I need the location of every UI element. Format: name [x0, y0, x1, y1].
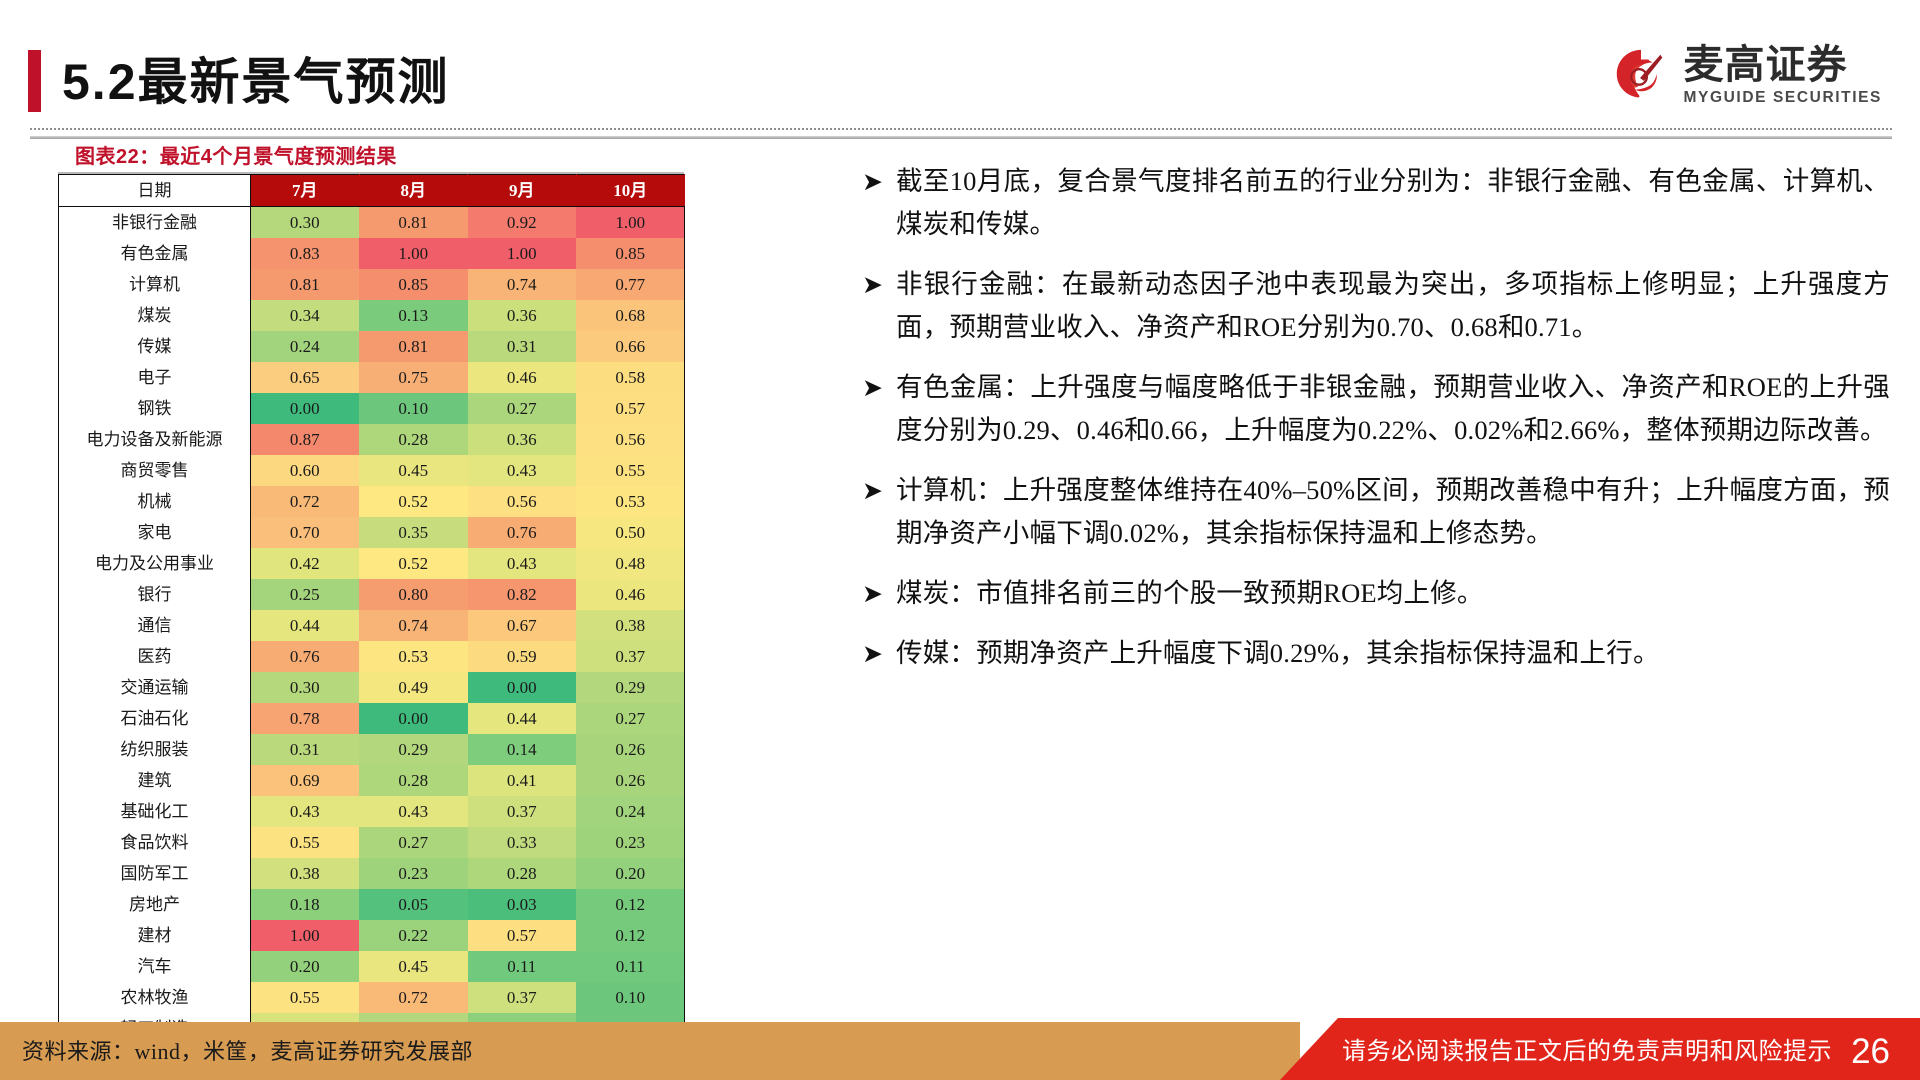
table-body: 非银行金融0.300.810.921.00有色金属0.831.001.000.8… [59, 207, 685, 1076]
cell-7月-汽车: 0.20 [251, 951, 360, 982]
table-header-month-3: 9月 [468, 175, 577, 207]
cell-9月-非银行金融: 0.92 [468, 207, 577, 239]
page-title: 5.2最新景气预测 [62, 42, 450, 114]
cell-9月-电力设备及新能源: 0.36 [468, 424, 577, 455]
chevron-bullet-icon: ➤ [862, 263, 896, 349]
table-row: 房地产0.180.050.030.12 [59, 889, 685, 920]
cell-10月-机械: 0.53 [576, 486, 685, 517]
chevron-bullet-icon: ➤ [862, 572, 896, 615]
cell-9月-食品饮料: 0.33 [468, 827, 577, 858]
cell-10月-建材: 0.12 [576, 920, 685, 951]
cell-8月-基础化工: 0.43 [359, 796, 468, 827]
commentary-item-1: ➤截至10月底，复合景气度排名前五的行业分别为：非银行金融、有色金属、计算机、煤… [862, 160, 1890, 246]
table-row: 计算机0.810.850.740.77 [59, 269, 685, 300]
cell-7月-纺织服装: 0.31 [251, 734, 360, 765]
cell-7月-石油石化: 0.78 [251, 703, 360, 734]
row-label-通信: 通信 [59, 610, 251, 641]
commentary-text-4: 计算机：上升强度整体维持在40%–50%区间，预期改善稳中有升；上升幅度方面，预… [896, 469, 1890, 555]
cell-7月-钢铁: 0.00 [251, 393, 360, 424]
row-label-建筑: 建筑 [59, 765, 251, 796]
cell-10月-电力设备及新能源: 0.56 [576, 424, 685, 455]
row-label-电子: 电子 [59, 362, 251, 393]
cell-9月-医药: 0.59 [468, 641, 577, 672]
logo-name-en: MYGUIDE SECURITIES [1684, 89, 1882, 107]
cell-9月-有色金属: 1.00 [468, 238, 577, 269]
row-label-房地产: 房地产 [59, 889, 251, 920]
cell-9月-机械: 0.56 [468, 486, 577, 517]
cell-8月-医药: 0.53 [359, 641, 468, 672]
page-number: 26 [1851, 1032, 1890, 1072]
cell-10月-煤炭: 0.68 [576, 300, 685, 331]
cell-10月-医药: 0.37 [576, 641, 685, 672]
cell-10月-电力及公用事业: 0.48 [576, 548, 685, 579]
chevron-bullet-icon: ➤ [862, 160, 896, 246]
header-divider-dotted [30, 128, 1892, 130]
table-row: 通信0.440.740.670.38 [59, 610, 685, 641]
cell-10月-农林牧渔: 0.10 [576, 982, 685, 1013]
commentary-item-3: ➤有色金属：上升强度与幅度略低于非银金融，预期营业收入、净资产和ROE的上升强度… [862, 366, 1890, 452]
table-row: 银行0.250.800.820.46 [59, 579, 685, 610]
cell-7月-银行: 0.25 [251, 579, 360, 610]
cell-8月-有色金属: 1.00 [359, 238, 468, 269]
cell-8月-汽车: 0.45 [359, 951, 468, 982]
cell-8月-计算机: 0.85 [359, 269, 468, 300]
table-row: 电力及公用事业0.420.520.430.48 [59, 548, 685, 579]
row-label-家电: 家电 [59, 517, 251, 548]
cell-10月-建筑: 0.26 [576, 765, 685, 796]
cell-9月-纺织服装: 0.14 [468, 734, 577, 765]
company-logo: 麦高证券 MYGUIDE SECURITIES [1610, 44, 1882, 107]
cell-7月-建材: 1.00 [251, 920, 360, 951]
cell-10月-交通运输: 0.29 [576, 672, 685, 703]
cell-9月-计算机: 0.74 [468, 269, 577, 300]
cell-9月-电力及公用事业: 0.43 [468, 548, 577, 579]
table-row: 汽车0.200.450.110.11 [59, 951, 685, 982]
table-header-category: 日期 [59, 175, 251, 207]
table-head: 日期7月8月9月10月 [59, 175, 685, 207]
cell-10月-房地产: 0.12 [576, 889, 685, 920]
cell-8月-食品饮料: 0.27 [359, 827, 468, 858]
table-row: 交通运输0.300.490.000.29 [59, 672, 685, 703]
heatmap-table-wrapper: 日期7月8月9月10月 非银行金融0.300.810.921.00有色金属0.8… [58, 174, 684, 1076]
table-row: 建材1.000.220.570.12 [59, 920, 685, 951]
prosperity-heatmap-table: 日期7月8月9月10月 非银行金融0.300.810.921.00有色金属0.8… [58, 174, 685, 1076]
table-row: 建筑0.690.280.410.26 [59, 765, 685, 796]
cell-9月-建材: 0.57 [468, 920, 577, 951]
cell-8月-商贸零售: 0.45 [359, 455, 468, 486]
commentary-item-4: ➤计算机：上升强度整体维持在40%–50%区间，预期改善稳中有升；上升幅度方面，… [862, 469, 1890, 555]
slide: 5.2最新景气预测 麦高证券 MYGUIDE SECURITIES 图表22：最… [0, 0, 1920, 1080]
row-label-机械: 机械 [59, 486, 251, 517]
cell-8月-传媒: 0.81 [359, 331, 468, 362]
table-header-row: 日期7月8月9月10月 [59, 175, 685, 207]
table-row: 基础化工0.430.430.370.24 [59, 796, 685, 827]
row-label-纺织服装: 纺织服装 [59, 734, 251, 765]
cell-9月-石油石化: 0.44 [468, 703, 577, 734]
row-label-有色金属: 有色金属 [59, 238, 251, 269]
table-row: 纺织服装0.310.290.140.26 [59, 734, 685, 765]
cell-10月-钢铁: 0.57 [576, 393, 685, 424]
cell-8月-通信: 0.74 [359, 610, 468, 641]
cell-7月-食品饮料: 0.55 [251, 827, 360, 858]
table-header-month-2: 8月 [359, 175, 468, 207]
cell-7月-通信: 0.44 [251, 610, 360, 641]
cell-8月-房地产: 0.05 [359, 889, 468, 920]
cell-9月-钢铁: 0.27 [468, 393, 577, 424]
cell-7月-煤炭: 0.34 [251, 300, 360, 331]
table-row: 电力设备及新能源0.870.280.360.56 [59, 424, 685, 455]
commentary-item-6: ➤传媒：预期净资产上升幅度下调0.29%，其余指标保持温和上行。 [862, 632, 1890, 675]
cell-9月-国防军工: 0.28 [468, 858, 577, 889]
footer-disclaimer: 请务必阅读报告正文后的免责声明和风险提示 [1342, 1031, 1832, 1066]
cell-10月-商贸零售: 0.55 [576, 455, 685, 486]
cell-8月-煤炭: 0.13 [359, 300, 468, 331]
chevron-bullet-icon: ➤ [862, 469, 896, 555]
row-label-钢铁: 钢铁 [59, 393, 251, 424]
cell-7月-房地产: 0.18 [251, 889, 360, 920]
cell-7月-电力及公用事业: 0.42 [251, 548, 360, 579]
table-row: 农林牧渔0.550.720.370.10 [59, 982, 685, 1013]
table-row: 非银行金融0.300.810.921.00 [59, 207, 685, 239]
chevron-bullet-icon: ➤ [862, 366, 896, 452]
header-divider-solid [30, 136, 1892, 139]
row-label-商贸零售: 商贸零售 [59, 455, 251, 486]
cell-7月-电力设备及新能源: 0.87 [251, 424, 360, 455]
cell-10月-电子: 0.58 [576, 362, 685, 393]
myguide-logo-icon [1610, 45, 1672, 107]
cell-10月-石油石化: 0.27 [576, 703, 685, 734]
row-label-非银行金融: 非银行金融 [59, 207, 251, 239]
cell-8月-国防军工: 0.23 [359, 858, 468, 889]
commentary-text-6: 传媒：预期净资产上升幅度下调0.29%，其余指标保持温和上行。 [896, 632, 1890, 675]
row-label-电力设备及新能源: 电力设备及新能源 [59, 424, 251, 455]
table-row: 家电0.700.350.760.50 [59, 517, 685, 548]
cell-8月-电力及公用事业: 0.52 [359, 548, 468, 579]
cell-9月-煤炭: 0.36 [468, 300, 577, 331]
table-row: 有色金属0.831.001.000.85 [59, 238, 685, 269]
cell-7月-国防军工: 0.38 [251, 858, 360, 889]
cell-9月-房地产: 0.03 [468, 889, 577, 920]
cell-8月-钢铁: 0.10 [359, 393, 468, 424]
row-label-传媒: 传媒 [59, 331, 251, 362]
table-row: 国防军工0.380.230.280.20 [59, 858, 685, 889]
commentary-item-5: ➤煤炭：市值排名前三的个股一致预期ROE均上修。 [862, 572, 1890, 615]
cell-8月-石油石化: 0.00 [359, 703, 468, 734]
cell-9月-银行: 0.82 [468, 579, 577, 610]
title-accent-bar [28, 50, 41, 112]
cell-9月-电子: 0.46 [468, 362, 577, 393]
table-row: 煤炭0.340.130.360.68 [59, 300, 685, 331]
row-label-煤炭: 煤炭 [59, 300, 251, 331]
cell-7月-电子: 0.65 [251, 362, 360, 393]
cell-7月-有色金属: 0.83 [251, 238, 360, 269]
source-note: 资料来源：wind，米筐，麦高证券研究发展部 [22, 1034, 473, 1066]
cell-7月-商贸零售: 0.60 [251, 455, 360, 486]
commentary-item-2: ➤非银行金融：在最新动态因子池中表现最为突出，多项指标上修明显；上升强度方面，预… [862, 263, 1890, 349]
cell-10月-纺织服装: 0.26 [576, 734, 685, 765]
cell-8月-电子: 0.75 [359, 362, 468, 393]
cell-7月-计算机: 0.81 [251, 269, 360, 300]
cell-7月-交通运输: 0.30 [251, 672, 360, 703]
cell-8月-银行: 0.80 [359, 579, 468, 610]
table-header-month-4: 10月 [576, 175, 685, 207]
commentary-text-3: 有色金属：上升强度与幅度略低于非银金融，预期营业收入、净资产和ROE的上升强度分… [896, 366, 1890, 452]
cell-9月-汽车: 0.11 [468, 951, 577, 982]
row-label-食品饮料: 食品饮料 [59, 827, 251, 858]
cell-7月-农林牧渔: 0.55 [251, 982, 360, 1013]
row-label-交通运输: 交通运输 [59, 672, 251, 703]
cell-10月-基础化工: 0.24 [576, 796, 685, 827]
cell-10月-计算机: 0.77 [576, 269, 685, 300]
cell-9月-家电: 0.76 [468, 517, 577, 548]
logo-text: 麦高证券 MYGUIDE SECURITIES [1684, 44, 1882, 107]
table-row: 医药0.760.530.590.37 [59, 641, 685, 672]
cell-9月-通信: 0.67 [468, 610, 577, 641]
table-row: 电子0.650.750.460.58 [59, 362, 685, 393]
cell-7月-家电: 0.70 [251, 517, 360, 548]
commentary-list: ➤截至10月底，复合景气度排名前五的行业分别为：非银行金融、有色金属、计算机、煤… [862, 160, 1890, 692]
row-label-国防军工: 国防军工 [59, 858, 251, 889]
commentary-text-2: 非银行金融：在最新动态因子池中表现最为突出，多项指标上修明显；上升强度方面，预期… [896, 263, 1890, 349]
table-header-month-1: 7月 [251, 175, 360, 207]
cell-8月-建材: 0.22 [359, 920, 468, 951]
cell-7月-医药: 0.76 [251, 641, 360, 672]
row-label-电力及公用事业: 电力及公用事业 [59, 548, 251, 579]
cell-10月-国防军工: 0.20 [576, 858, 685, 889]
cell-7月-基础化工: 0.43 [251, 796, 360, 827]
cell-10月-有色金属: 0.85 [576, 238, 685, 269]
table-row: 商贸零售0.600.450.430.55 [59, 455, 685, 486]
cell-10月-银行: 0.46 [576, 579, 685, 610]
logo-name-cn: 麦高证券 [1684, 44, 1882, 86]
row-label-银行: 银行 [59, 579, 251, 610]
cell-8月-非银行金融: 0.81 [359, 207, 468, 239]
cell-8月-交通运输: 0.49 [359, 672, 468, 703]
cell-8月-纺织服装: 0.29 [359, 734, 468, 765]
commentary-text-1: 截至10月底，复合景气度排名前五的行业分别为：非银行金融、有色金属、计算机、煤炭… [896, 160, 1890, 246]
commentary-text-5: 煤炭：市值排名前三的个股一致预期ROE均上修。 [896, 572, 1890, 615]
cell-10月-通信: 0.38 [576, 610, 685, 641]
cell-8月-建筑: 0.28 [359, 765, 468, 796]
cell-7月-非银行金融: 0.30 [251, 207, 360, 239]
cell-8月-电力设备及新能源: 0.28 [359, 424, 468, 455]
table-row: 食品饮料0.550.270.330.23 [59, 827, 685, 858]
cell-9月-农林牧渔: 0.37 [468, 982, 577, 1013]
table-row: 传媒0.240.810.310.66 [59, 331, 685, 362]
chevron-bullet-icon: ➤ [862, 632, 896, 675]
cell-8月-家电: 0.35 [359, 517, 468, 548]
cell-10月-家电: 0.50 [576, 517, 685, 548]
row-label-建材: 建材 [59, 920, 251, 951]
cell-7月-建筑: 0.69 [251, 765, 360, 796]
cell-10月-传媒: 0.66 [576, 331, 685, 362]
cell-9月-传媒: 0.31 [468, 331, 577, 362]
table-row: 石油石化0.780.000.440.27 [59, 703, 685, 734]
cell-10月-食品饮料: 0.23 [576, 827, 685, 858]
row-label-基础化工: 基础化工 [59, 796, 251, 827]
cell-7月-传媒: 0.24 [251, 331, 360, 362]
cell-8月-农林牧渔: 0.72 [359, 982, 468, 1013]
table-row: 机械0.720.520.560.53 [59, 486, 685, 517]
cell-9月-商贸零售: 0.43 [468, 455, 577, 486]
row-label-石油石化: 石油石化 [59, 703, 251, 734]
row-label-计算机: 计算机 [59, 269, 251, 300]
table-row: 钢铁0.000.100.270.57 [59, 393, 685, 424]
cell-10月-汽车: 0.11 [576, 951, 685, 982]
row-label-汽车: 汽车 [59, 951, 251, 982]
figure-caption: 图表22：最近4个月景气度预测结果 [75, 140, 397, 169]
cell-9月-交通运输: 0.00 [468, 672, 577, 703]
cell-9月-建筑: 0.41 [468, 765, 577, 796]
row-label-农林牧渔: 农林牧渔 [59, 982, 251, 1013]
cell-10月-非银行金融: 1.00 [576, 207, 685, 239]
cell-8月-机械: 0.52 [359, 486, 468, 517]
cell-7月-机械: 0.72 [251, 486, 360, 517]
row-label-医药: 医药 [59, 641, 251, 672]
cell-9月-基础化工: 0.37 [468, 796, 577, 827]
